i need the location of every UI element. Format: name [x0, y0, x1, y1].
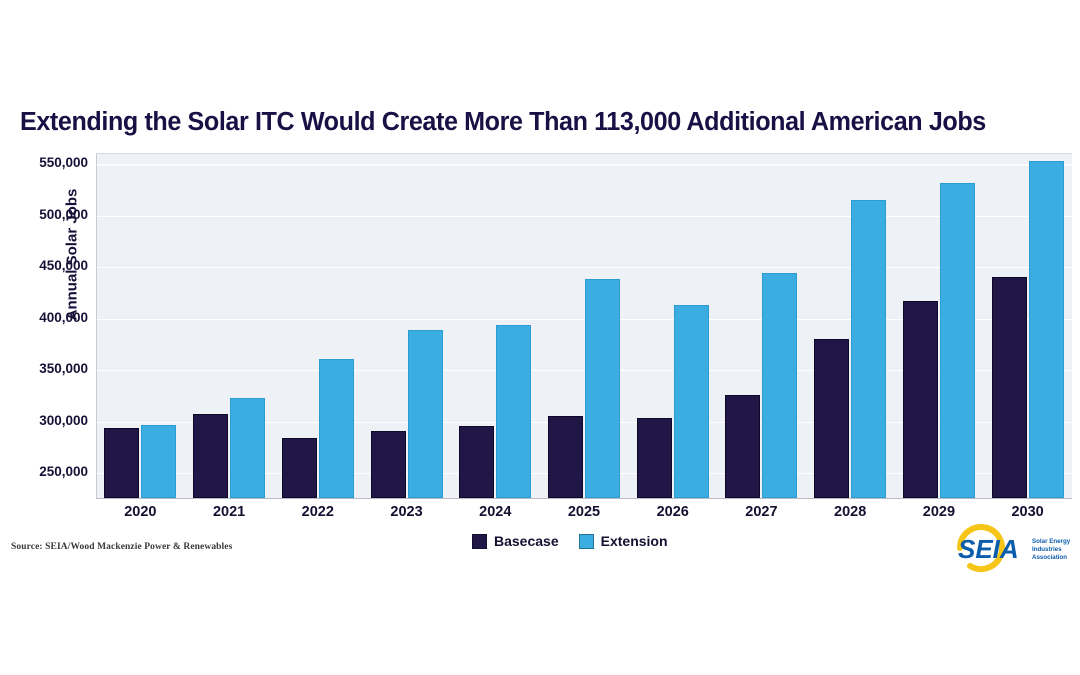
bar-basecase-2024: [459, 426, 494, 498]
bar-basecase-2030: [992, 277, 1027, 498]
x-axis-tick-2025: 2025: [540, 504, 629, 520]
gridline: [97, 164, 1072, 166]
seia-tagline: Solar Energy Industries Association: [1032, 538, 1071, 561]
y-axis-tick: 300,000: [0, 413, 88, 428]
bar-extension-2023: [408, 330, 443, 498]
bar-extension-2021: [230, 398, 265, 498]
legend-label-basecase: Basecase: [494, 533, 559, 549]
x-axis-tick-2027: 2027: [717, 504, 806, 520]
bar-basecase-2023: [371, 431, 406, 498]
bar-extension-2027: [762, 273, 797, 498]
legend-swatch-basecase: [472, 534, 487, 549]
bar-basecase-2028: [814, 339, 849, 498]
y-axis-tick: 550,000: [0, 155, 88, 170]
bar-basecase-2022: [282, 438, 317, 498]
legend-item-extension: Extension: [579, 533, 668, 549]
bar-extension-2024: [496, 325, 531, 498]
bar-basecase-2026: [637, 418, 672, 498]
x-axis-tick-2026: 2026: [628, 504, 717, 520]
legend-swatch-extension: [579, 534, 594, 549]
source-note: Source: SEIA/Wood Mackenzie Power & Rene…: [11, 542, 232, 552]
y-axis-tick: 450,000: [0, 258, 88, 273]
x-axis-tick-2028: 2028: [806, 504, 895, 520]
x-axis-tick-2021: 2021: [185, 504, 274, 520]
legend-label-extension: Extension: [601, 533, 668, 549]
svg-text:Industries: Industries: [1032, 546, 1062, 553]
bar-extension-2030: [1029, 161, 1064, 498]
bar-basecase-2020: [104, 428, 139, 498]
x-axis-tick-2024: 2024: [451, 504, 540, 520]
bar-basecase-2025: [548, 416, 583, 498]
legend-item-basecase: Basecase: [472, 533, 559, 549]
y-axis-tick: 400,000: [0, 310, 88, 325]
x-axis-tick-2020: 2020: [96, 504, 185, 520]
x-axis-tick-2022: 2022: [273, 504, 362, 520]
y-axis-tick: 500,000: [0, 207, 88, 222]
y-axis-tick: 250,000: [0, 464, 88, 479]
bar-extension-2025: [585, 279, 620, 498]
gridline: [97, 267, 1072, 268]
seia-logo: SEIA Solar Energy Industries Association: [936, 523, 1072, 573]
bar-extension-2028: [851, 200, 886, 498]
chart-legend: BasecaseExtension: [472, 533, 668, 549]
svg-text:Solar Energy: Solar Energy: [1032, 538, 1071, 545]
x-axis-baseline: [96, 498, 1072, 499]
bar-extension-2022: [319, 359, 354, 498]
bar-extension-2026: [674, 305, 709, 498]
gridline: [97, 216, 1072, 217]
bar-basecase-2021: [193, 414, 228, 498]
bar-basecase-2029: [903, 301, 938, 498]
x-axis-tick-2030: 2030: [983, 504, 1072, 520]
svg-text:Association: Association: [1032, 554, 1067, 561]
seia-wordmark: SEIA: [958, 534, 1019, 564]
chart-page: Extending the Solar ITC Would Create Mor…: [0, 0, 1080, 675]
x-axis-tick-2023: 2023: [362, 504, 451, 520]
bar-basecase-2027: [725, 395, 760, 498]
y-axis-tick: 350,000: [0, 361, 88, 376]
x-axis-tick-2029: 2029: [895, 504, 984, 520]
bar-extension-2029: [940, 183, 975, 498]
bar-extension-2020: [141, 425, 176, 498]
